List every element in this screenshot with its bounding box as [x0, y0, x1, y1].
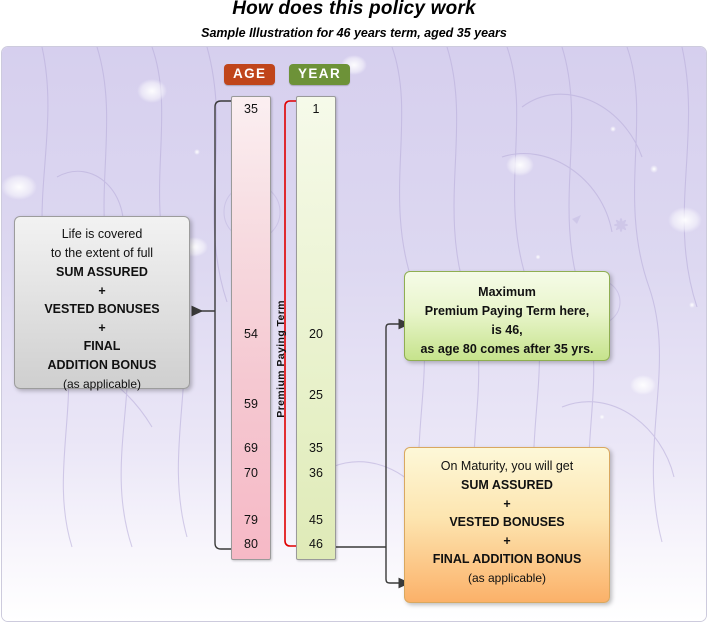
age-value-3: 69 [232, 441, 270, 455]
maximum-ppt-line-2: is 46, [405, 321, 609, 340]
life-cover-line-1: to the extent of full [15, 244, 189, 263]
age-column: 35 54 59 69 70 79 80 [231, 96, 271, 560]
maturity-line-3: VESTED BONUSES [405, 513, 609, 532]
maturity-line-1: SUM ASSURED [405, 476, 609, 495]
life-cover-line-6: FINAL [15, 337, 189, 356]
year-value-1: 20 [297, 327, 335, 341]
page-title: How does this policy work [0, 0, 708, 20]
premium-paying-term-label: Premium Paying Term [275, 300, 287, 418]
maturity-line-4: + [405, 532, 609, 550]
life-cover-line-5: + [15, 319, 189, 337]
age-value-1: 54 [232, 327, 270, 341]
life-cover-line-0: Life is covered [15, 225, 189, 244]
badge-age: AGE [224, 64, 275, 85]
page-subtitle: Sample Illustration for 46 years term, a… [0, 26, 708, 40]
age-value-5: 79 [232, 513, 270, 527]
age-value-2: 59 [232, 397, 270, 411]
maturity-line-6: (as applicable) [405, 569, 609, 588]
year-value-6: 46 [297, 537, 335, 551]
year-value-0: 1 [297, 102, 335, 116]
maximum-ppt-box: Maximum Premium Paying Term here, is 46,… [404, 271, 610, 361]
maximum-ppt-line-3: as age 80 comes after 35 yrs. [405, 340, 609, 359]
life-cover-box: Life is covered to the extent of full SU… [14, 216, 190, 389]
year-value-4: 36 [297, 466, 335, 480]
year-value-3: 35 [297, 441, 335, 455]
maximum-ppt-line-1: Premium Paying Term here, [405, 302, 609, 321]
life-cover-line-2: SUM ASSURED [15, 263, 189, 282]
age-value-6: 80 [232, 537, 270, 551]
age-value-0: 35 [232, 102, 270, 116]
year-value-2: 25 [297, 388, 335, 402]
year-column: 1 20 25 35 36 45 46 [296, 96, 336, 560]
life-cover-line-4: VESTED BONUSES [15, 300, 189, 319]
badge-year: YEAR [289, 64, 350, 85]
life-cover-line-7: ADDITION BONUS [15, 356, 189, 375]
maturity-box: On Maturity, you will get SUM ASSURED + … [404, 447, 610, 603]
policy-infographic: How does this policy work Sample Illustr… [0, 0, 708, 623]
life-cover-line-8: (as applicable) [15, 375, 189, 394]
age-value-4: 70 [232, 466, 270, 480]
maturity-line-2: + [405, 495, 609, 513]
maturity-line-0: On Maturity, you will get [405, 457, 609, 476]
maturity-line-5: FINAL ADDITION BONUS [405, 550, 609, 569]
year-value-5: 45 [297, 513, 335, 527]
maximum-ppt-line-0: Maximum [405, 283, 609, 302]
life-cover-line-3: + [15, 282, 189, 300]
